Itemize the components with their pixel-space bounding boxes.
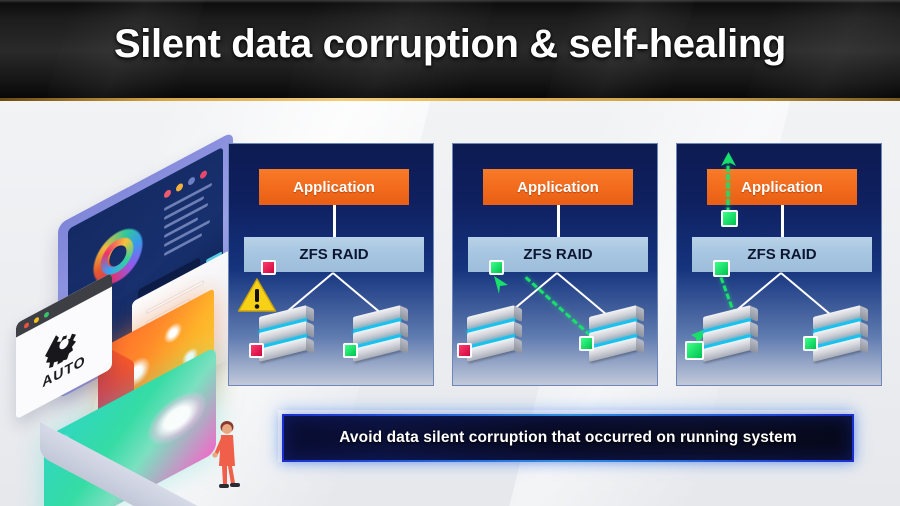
- panel-corruption-detected[interactable]: Application ZFS RAID: [228, 143, 434, 386]
- title-gold-rule: [0, 98, 900, 101]
- repair-arrow-up-left: [525, 276, 598, 342]
- zfs-ok-marker: [713, 260, 730, 277]
- app-to-zfs-link: [333, 205, 336, 237]
- disk-stack-left: [259, 311, 315, 369]
- application-label: Application: [741, 179, 823, 196]
- left-disk-bad-marker: [249, 343, 264, 358]
- panel-repair-copy-from-mirror[interactable]: Application ZFS RAID: [452, 143, 658, 386]
- application-label: Application: [517, 179, 599, 196]
- disk-stack-right: [589, 311, 645, 369]
- left-disk-bad-marker: [457, 343, 472, 358]
- disk-stack-left: [467, 311, 523, 369]
- disk-stack-right: [353, 311, 409, 369]
- app-to-zfs-link: [781, 205, 784, 237]
- application-box[interactable]: Application: [483, 169, 633, 205]
- warning-triangle-icon: [237, 277, 277, 313]
- zfs-raid-label: ZFS RAID: [747, 246, 816, 263]
- application-ok-marker: [721, 210, 738, 227]
- application-box[interactable]: Application: [259, 169, 409, 205]
- disk-stack-left: [703, 311, 759, 369]
- person-figure-icon: [208, 418, 244, 492]
- summary-banner-text: Avoid data silent corruption that occurr…: [339, 429, 797, 447]
- zfs-ok-marker: [489, 260, 504, 275]
- panel-healed-and-served[interactable]: Application ZFS RAID: [676, 143, 882, 386]
- right-disk-ok-marker: [803, 336, 818, 351]
- zfs-raid-label: ZFS RAID: [523, 246, 592, 263]
- title-bar: Silent data corruption & self-healing: [0, 0, 900, 101]
- application-box[interactable]: Application: [707, 169, 857, 205]
- disk-stack-right: [813, 311, 869, 369]
- zfs-raid-label: ZFS RAID: [299, 246, 368, 263]
- right-disk-ok-marker: [343, 343, 358, 358]
- slide-root: Silent data corruption & self-healing: [0, 0, 900, 506]
- slide-title: Silent data corruption & self-healing: [0, 22, 900, 67]
- zfs-bad-marker: [261, 260, 276, 275]
- diagram-panels: Application ZFS RAID: [228, 143, 888, 386]
- app-to-zfs-link: [557, 205, 560, 237]
- repair-arrow-head-icon: [491, 274, 511, 296]
- summary-banner[interactable]: Avoid data silent corruption that occurr…: [282, 414, 854, 462]
- right-disk-ok-marker: [579, 336, 594, 351]
- left-disk-ok-marker: [685, 341, 704, 360]
- serve-arrow-head-icon: [720, 152, 737, 168]
- application-label: Application: [293, 179, 375, 196]
